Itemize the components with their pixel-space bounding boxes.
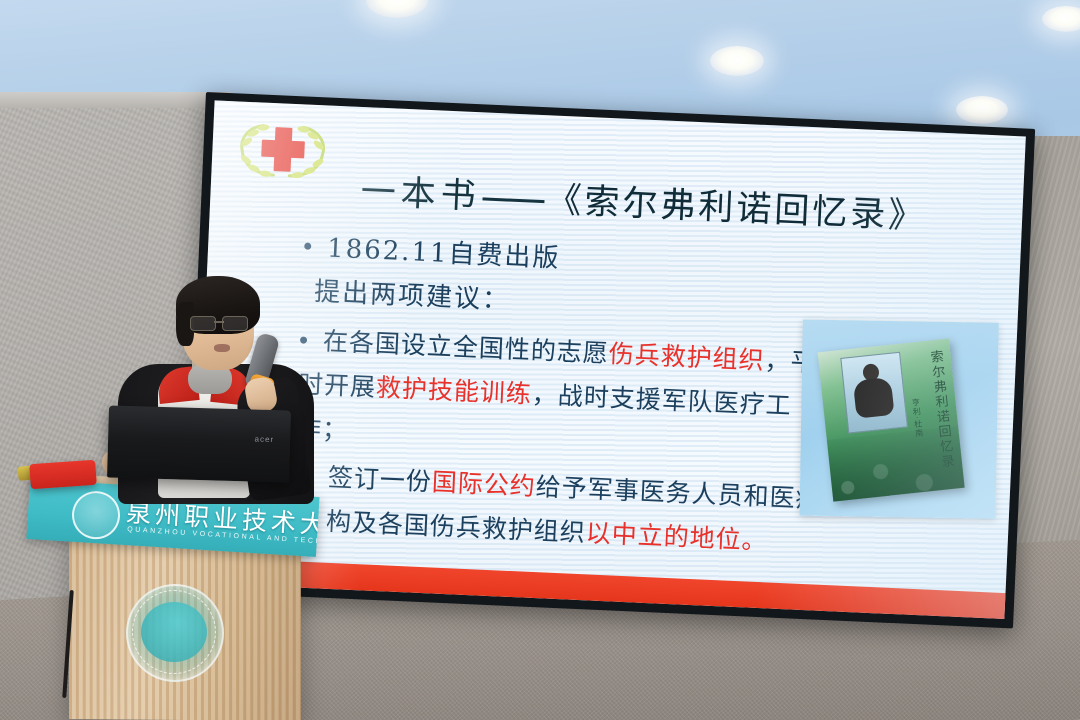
p1-seg-1: 伤兵救护组织: [608, 339, 765, 375]
portrait-body: [853, 377, 895, 419]
slide-paragraph-2: 签订一份国际公约给予军事医务人员和医疗机构及各国伤兵救护组织以中立的地位。: [325, 456, 868, 568]
left-wall-top-edge: [0, 92, 232, 108]
podium-laptop[interactable]: acer: [107, 405, 291, 482]
glasses-lens-right: [222, 316, 248, 331]
bullet-dot-icon: [304, 243, 311, 250]
title-dash: [482, 197, 544, 203]
slide-bullet-1: 1862.11自费出版: [303, 227, 561, 275]
p1-seg-0: 在各国设立全国性的志愿: [322, 326, 609, 368]
red-cross-wreath-emblem: [233, 117, 332, 183]
university-seal-emblem: [126, 584, 224, 682]
book-cover-photo: 索尔弗利诺回忆录 亨利·杜南: [800, 320, 999, 519]
slide-bullet-1-text: 1862.11自费出版: [326, 234, 561, 274]
p2-seg-3: 以中立的地位。: [585, 518, 768, 555]
banner-seal-icon: [71, 490, 122, 541]
slide-paragraph-1: 在各国设立全国性的志愿伤兵救护组织，平时开展救护技能训练，战时支援军队医疗工作；: [295, 318, 830, 473]
p2-seg-0: 签订一份: [327, 463, 432, 497]
slide-surface: 一本书《索尔弗利诺回忆录》 1862.11自费出版 提出两项建议： 在各国设立全…: [193, 100, 1026, 619]
red-presenter-remote[interactable]: [29, 460, 97, 490]
screenshot-root: 一本书《索尔弗利诺回忆录》 1862.11自费出版 提出两项建议： 在各国设立全…: [0, 0, 1080, 720]
glasses-icon: [190, 316, 248, 330]
slide-title: 一本书《索尔弗利诺回忆录》: [360, 163, 1002, 242]
bearded-man-portrait: [840, 352, 908, 434]
seal-inner-graphic: [141, 602, 207, 662]
glasses-lens-left: [190, 316, 216, 331]
book-cover-foliage: [827, 426, 965, 502]
slide-title-main: 一本书: [360, 172, 482, 217]
book-cover: 索尔弗利诺回忆录 亨利·杜南: [818, 338, 965, 501]
p1-seg-3: 救护技能训练: [375, 373, 532, 409]
presenter-mouth: [214, 344, 230, 352]
recessed-ceiling-downlight: [710, 46, 764, 76]
red-cross-horizontal-bar: [261, 140, 305, 159]
laptop-brand-label: acer: [254, 435, 274, 445]
slide-bullet-2-text: 提出两项建议：: [314, 277, 511, 316]
recessed-ceiling-downlight: [956, 96, 1008, 124]
slide-title-book: 《索尔弗利诺回忆录》: [546, 180, 927, 237]
slide-bullet-2: 提出两项建议：: [313, 271, 510, 317]
p2-seg-1: 国际公约: [431, 467, 536, 501]
